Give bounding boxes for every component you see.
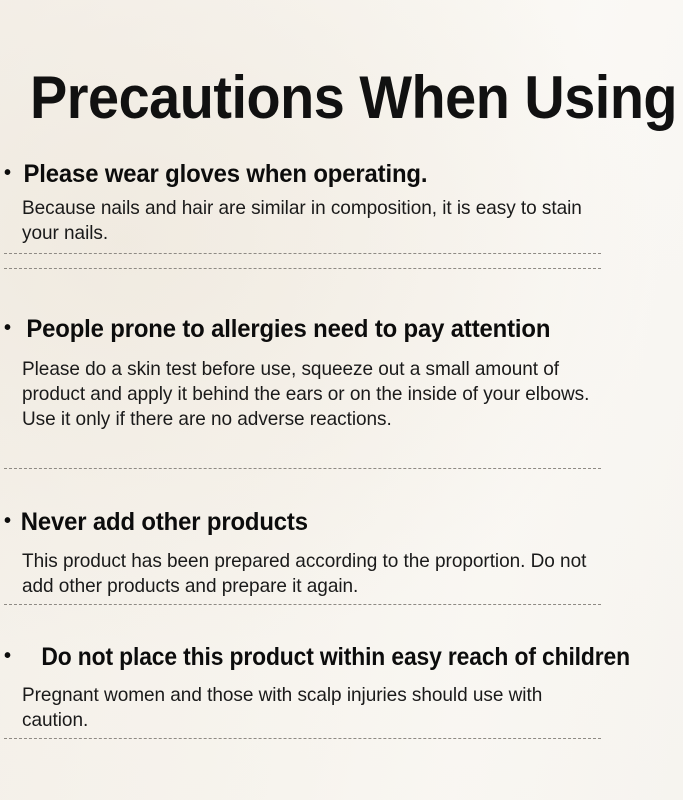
- precaution-item: • People prone to allergies need to pay …: [0, 315, 683, 432]
- precaution-body: Pregnant women and those with scalp inju…: [4, 683, 622, 733]
- precaution-heading-text: Do not place this product within easy re…: [41, 643, 630, 671]
- precaution-heading: • Do not place this product within easy …: [4, 643, 683, 671]
- section-divider: [4, 738, 601, 739]
- precaution-item: • Never add other products This product …: [0, 508, 683, 599]
- precautions-panel: Precautions When Using • Please wear glo…: [0, 0, 683, 800]
- bullet-icon: •: [4, 511, 14, 531]
- precaution-body: Please do a skin test before use, squeez…: [4, 357, 622, 432]
- precaution-item: • Please wear gloves when operating. Bec…: [0, 160, 683, 246]
- precaution-body: Because nails and hair are similar in co…: [4, 196, 622, 246]
- section-divider: [4, 253, 601, 254]
- precaution-body-text: Please do a skin test before use, squeez…: [22, 357, 607, 432]
- precaution-heading-text: People prone to allergies need to pay at…: [26, 315, 550, 343]
- bullet-icon: •: [4, 318, 14, 338]
- precaution-heading-text: Never add other products: [21, 508, 308, 536]
- precaution-heading-text: Please wear gloves when operating.: [24, 160, 428, 188]
- precaution-body-text: This product has been prepared according…: [22, 549, 607, 599]
- page-title: Precautions When Using: [30, 68, 677, 128]
- precaution-body-text: Because nails and hair are similar in co…: [22, 196, 607, 246]
- section-divider: [4, 268, 601, 269]
- precaution-heading: • Never add other products: [4, 508, 683, 536]
- bullet-icon: •: [4, 163, 14, 183]
- precaution-body-text: Pregnant women and those with scalp inju…: [22, 683, 607, 733]
- precaution-item: • Do not place this product within easy …: [0, 643, 683, 733]
- bullet-icon: •: [4, 646, 14, 666]
- section-divider: [4, 468, 601, 469]
- precaution-body: This product has been prepared according…: [4, 549, 622, 599]
- precaution-heading: • People prone to allergies need to pay …: [4, 315, 683, 343]
- precaution-heading: • Please wear gloves when operating.: [4, 160, 683, 188]
- section-divider: [4, 604, 601, 605]
